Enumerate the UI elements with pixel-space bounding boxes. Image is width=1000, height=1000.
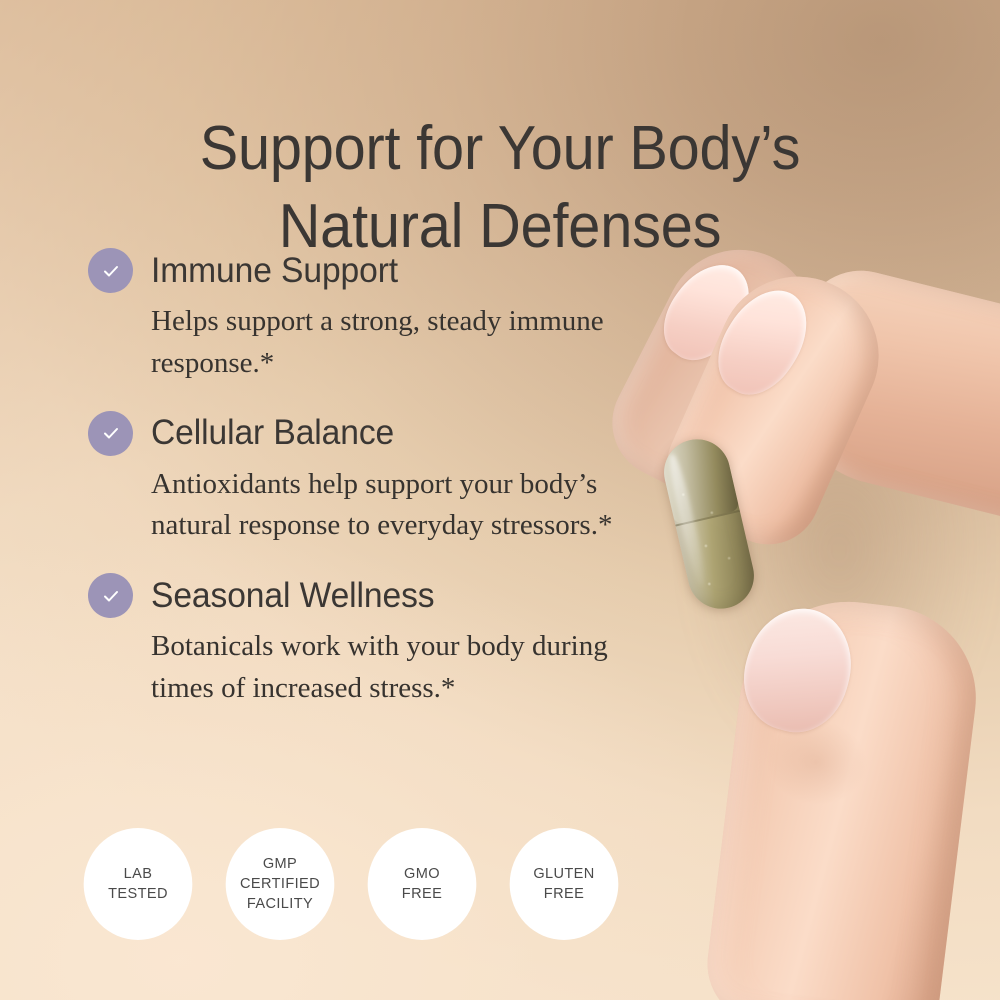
badge-lab-tested: LAB TESTED	[84, 828, 193, 940]
check-icon	[88, 411, 133, 456]
badge-line-1: GMP	[263, 854, 297, 874]
badge-line-3: FACILITY	[247, 894, 313, 914]
badge-gmo-free: GMO FREE	[368, 828, 477, 940]
benefit-description: Antioxidants help support your body’s na…	[151, 464, 621, 548]
benefit-list: Immune Support Helps support a strong, s…	[88, 248, 648, 736]
benefit-title: Immune Support	[151, 251, 398, 291]
benefit-description: Botanicals work with your body during ti…	[151, 626, 621, 710]
benefit-header: Seasonal Wellness	[88, 573, 648, 618]
hand-holding-capsule-photo	[600, 230, 1000, 1000]
badge-line-1: LAB	[124, 864, 153, 884]
benefit-title: Cellular Balance	[151, 413, 394, 453]
benefit-header: Immune Support	[88, 248, 648, 293]
promo-graphic: Support for Your Body’s Natural Defenses…	[0, 0, 1000, 1000]
benefit-description: Helps support a strong, steady immune re…	[151, 301, 621, 385]
benefit-item-immune-support: Immune Support Helps support a strong, s…	[88, 248, 648, 385]
thumb-knuckle-crease	[755, 712, 888, 836]
badge-gluten-free: GLUTEN FREE	[510, 828, 619, 940]
benefit-item-seasonal-wellness: Seasonal Wellness Botanicals work with y…	[88, 573, 648, 710]
badge-gmp-certified-facility: GMP CERTIFIED FACILITY	[226, 828, 335, 940]
badge-line-2: CERTIFIED	[240, 874, 320, 894]
check-icon	[88, 248, 133, 293]
trust-badge-row: LAB TESTED GMP CERTIFIED FACILITY GMO FR…	[82, 828, 620, 940]
benefit-item-cellular-balance: Cellular Balance Antioxidants help suppo…	[88, 411, 648, 548]
badge-line-2: FREE	[402, 884, 442, 904]
benefit-header: Cellular Balance	[88, 411, 648, 456]
title-line-1: Support for Your Body’s	[35, 110, 965, 188]
page-title: Support for Your Body’s Natural Defenses	[35, 110, 965, 266]
benefit-title: Seasonal Wellness	[151, 576, 435, 616]
badge-line-1: GMO	[404, 864, 440, 884]
badge-line-2: TESTED	[108, 884, 168, 904]
badge-line-2: FREE	[544, 884, 584, 904]
check-icon	[88, 573, 133, 618]
badge-line-1: GLUTEN	[533, 864, 594, 884]
